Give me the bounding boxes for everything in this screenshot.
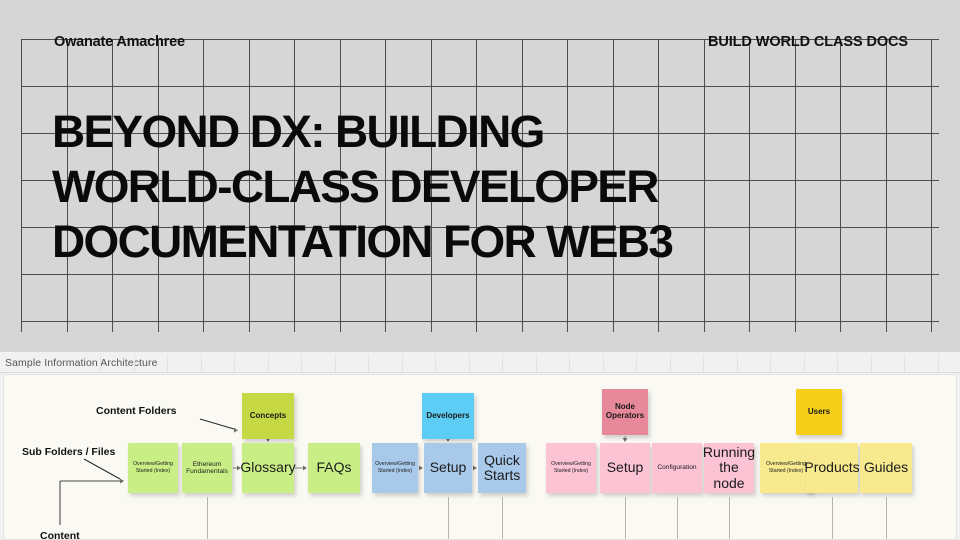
- grid-hline: [21, 321, 939, 322]
- drop-connector: [832, 497, 833, 540]
- drop-connector: [625, 497, 626, 540]
- note-label: Overview/Getting Started (Index): [548, 461, 594, 475]
- slide-tagline: BUILD WORLD CLASS DOCS: [708, 34, 908, 50]
- note-child-node-operators-2[interactable]: Configuration: [652, 443, 702, 493]
- sheet-column-separator: [201, 354, 202, 372]
- sheet-column-separator: [100, 354, 101, 372]
- whiteboard-panel: Sample Information Architecture Concepts…: [0, 352, 960, 540]
- drop-connector: [886, 497, 887, 540]
- drop-connector: [729, 497, 730, 540]
- sheet-column-separator: [234, 354, 235, 372]
- sheet-column-separator: [435, 354, 436, 372]
- sheet-column-separator: [134, 354, 135, 372]
- diagram-label-sub-folders-files: Sub Folders / Files: [22, 446, 115, 458]
- note-label: Overview/Getting Started (Index): [374, 461, 416, 475]
- grid-hline: [21, 274, 939, 275]
- note-label: Developers: [426, 412, 469, 421]
- drop-connector: [448, 497, 449, 540]
- note-label: Concepts: [250, 412, 286, 421]
- author-name: Owanate Amachree: [54, 34, 185, 50]
- sheet-column-separator: [737, 354, 738, 372]
- note-parent-users[interactable]: Users: [796, 389, 842, 435]
- note-child-concepts-2[interactable]: Glossary: [242, 443, 294, 493]
- sheet-column-separator: [804, 354, 805, 372]
- note-label: Setup: [607, 460, 644, 475]
- drop-connector: [502, 497, 503, 540]
- slide-area: Owanate Amachree BUILD WORLD CLASS DOCS …: [0, 0, 960, 352]
- sheet-column-separator: [536, 354, 537, 372]
- slide-header: Owanate Amachree BUILD WORLD CLASS DOCS: [0, 28, 960, 56]
- note-child-developers-2[interactable]: Quick Starts: [478, 443, 526, 493]
- sheet-column-separator: [837, 354, 838, 372]
- sheet-column-separator: [268, 354, 269, 372]
- note-child-users-2[interactable]: Guides: [860, 443, 912, 493]
- note-parent-developers[interactable]: Developers: [422, 393, 474, 439]
- note-child-node-operators-1[interactable]: Setup: [600, 443, 650, 493]
- grid-hline: [21, 86, 939, 87]
- sheet-column-separator: [904, 354, 905, 372]
- sheet-column-separator: [368, 354, 369, 372]
- sheet-column-separator: [636, 354, 637, 372]
- diagram-label-content-folders: Content Folders: [96, 405, 177, 417]
- note-child-users-1[interactable]: Products: [806, 443, 858, 493]
- note-child-concepts-0[interactable]: Overview/Getting Started (Index): [128, 443, 178, 493]
- sheet-column-separator: [871, 354, 872, 372]
- sheet-column-separator: [402, 354, 403, 372]
- sheet-column-separator: [335, 354, 336, 372]
- grid-vline: [21, 39, 22, 332]
- title-line-3: DOCUMENTATION FOR WEB3: [52, 214, 909, 269]
- note-label: Ethereum Fundamentals: [184, 461, 230, 475]
- sheet-column-separator: [770, 354, 771, 372]
- sheet-column-separator: [569, 354, 570, 372]
- note-parent-node-operators[interactable]: Node Operators: [602, 389, 648, 435]
- sheet-column-separator: [603, 354, 604, 372]
- note-label: Overview/Getting Started (Index): [130, 461, 176, 475]
- sheet-header-row: Sample Information Architecture: [0, 354, 960, 373]
- note-label: Setup: [430, 460, 467, 475]
- note-label: Users: [808, 408, 830, 417]
- title-line-2: WORLD-CLASS DEVELOPER: [52, 159, 909, 214]
- note-label: Quick Starts: [480, 453, 524, 483]
- note-label: Glossary: [240, 460, 295, 475]
- note-parent-concepts[interactable]: Concepts: [242, 393, 294, 439]
- note-label: Configuration: [657, 464, 696, 471]
- note-child-node-operators-3[interactable]: Running the node: [704, 443, 754, 493]
- note-label: Overview/Getting Started (Index): [762, 461, 810, 475]
- sheet-column-separator: [938, 354, 939, 372]
- page-title: BEYOND DX: BUILDING WORLD-CLASS DEVELOPE…: [52, 104, 892, 269]
- sheet-column-separator: [502, 354, 503, 372]
- drop-connector: [677, 497, 678, 540]
- note-label: Guides: [864, 460, 908, 475]
- note-child-concepts-1[interactable]: Ethereum Fundamentals: [182, 443, 232, 493]
- sheet-column-separator: [469, 354, 470, 372]
- grid-vline: [931, 39, 932, 332]
- title-line-1: BEYOND DX: BUILDING: [52, 104, 909, 159]
- note-child-developers-1[interactable]: Setup: [424, 443, 472, 493]
- note-label: Running the node: [703, 445, 755, 490]
- diagram-label-content: Content: [40, 530, 80, 540]
- note-label: Node Operators: [604, 403, 646, 420]
- sheet-column-separator: [301, 354, 302, 372]
- note-child-developers-0[interactable]: Overview/Getting Started (Index): [372, 443, 418, 493]
- sheet-column-separator: [167, 354, 168, 372]
- note-child-concepts-3[interactable]: FAQs: [308, 443, 360, 493]
- note-label: Products: [804, 460, 859, 475]
- diagram-canvas[interactable]: ConceptsOverview/Getting Started (Index)…: [3, 374, 957, 540]
- sheet-column-separator: [670, 354, 671, 372]
- note-child-node-operators-0[interactable]: Overview/Getting Started (Index): [546, 443, 596, 493]
- sheet-column-separator: [703, 354, 704, 372]
- note-label: FAQs: [316, 460, 351, 475]
- drop-connector: [207, 497, 208, 540]
